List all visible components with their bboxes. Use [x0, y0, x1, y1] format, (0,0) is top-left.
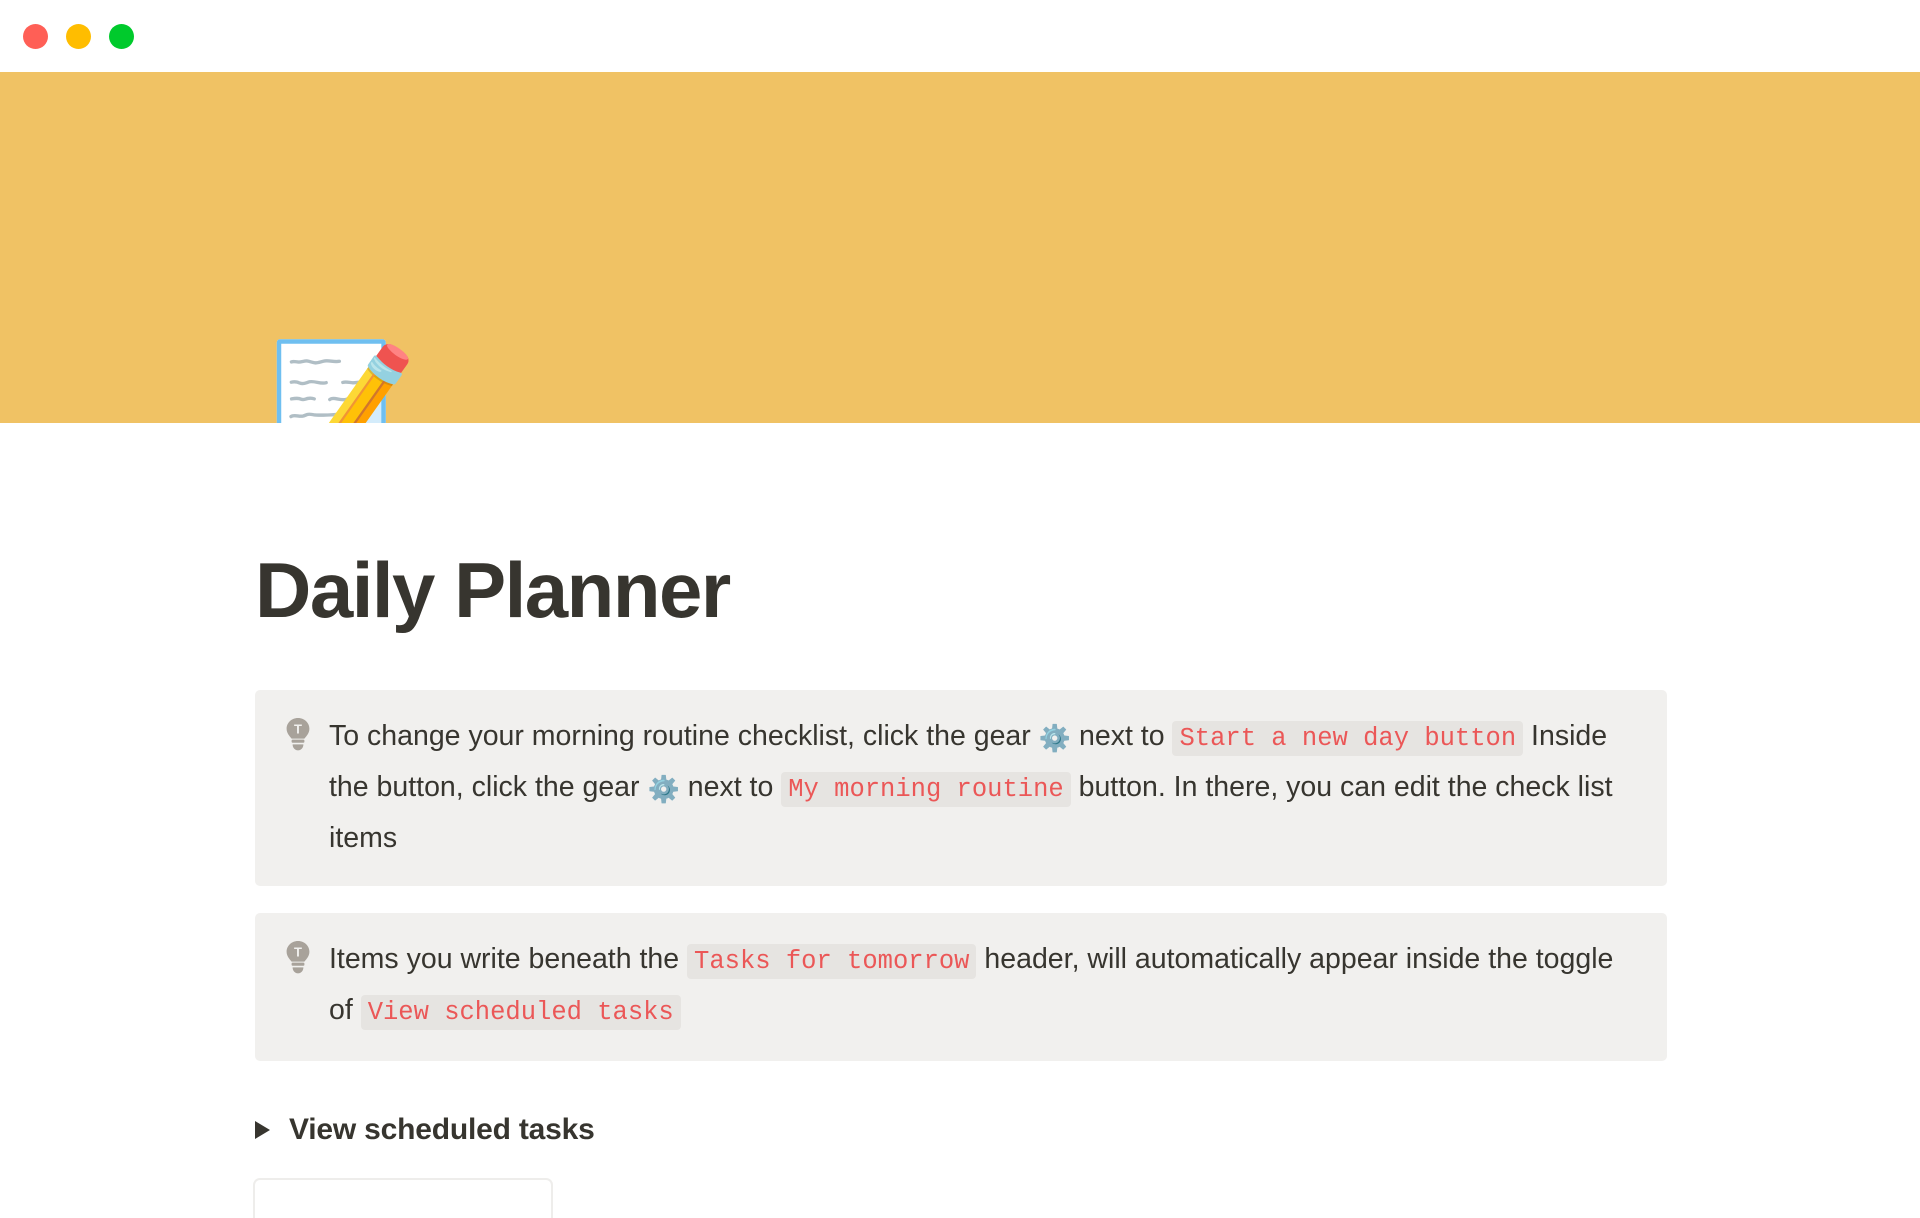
- code-view-scheduled-tasks: View scheduled tasks: [361, 995, 681, 1030]
- lightbulb-icon: T: [285, 940, 325, 974]
- code-my-morning-routine: My morning routine: [781, 772, 1070, 807]
- close-window-button[interactable]: [23, 24, 48, 49]
- callout-morning-routine[interactable]: T To change your morning routine checkli…: [255, 690, 1667, 886]
- toggle-view-scheduled-tasks[interactable]: View scheduled tasks: [255, 1113, 595, 1147]
- gear-icon[interactable]: ⚙️: [1039, 723, 1071, 753]
- callout-text-segment: Items you write beneath the: [329, 943, 687, 975]
- svg-text:T: T: [294, 722, 302, 737]
- page-title[interactable]: Daily Planner: [255, 551, 730, 629]
- toggle-label[interactable]: View scheduled tasks: [289, 1113, 595, 1147]
- minimize-window-button[interactable]: [66, 24, 91, 49]
- callout-tasks-tomorrow[interactable]: T Items you write beneath the Tasks for …: [255, 913, 1667, 1061]
- window-title-bar: [0, 0, 1920, 72]
- code-start-a-new-day-button: Start a new day button: [1172, 721, 1523, 756]
- svg-text:T: T: [294, 945, 302, 960]
- chevron-right-icon[interactable]: [255, 1121, 270, 1139]
- callout-tasks-tomorrow-text: Items you write beneath the Tasks for to…: [325, 935, 1637, 1037]
- maximize-window-button[interactable]: [109, 24, 134, 49]
- callout-text-segment: next to: [680, 771, 781, 803]
- callout-text-segment: next to: [1071, 720, 1172, 752]
- scheduled-task-card-stub[interactable]: [253, 1178, 553, 1218]
- lightbulb-icon: T: [285, 717, 325, 751]
- code-tasks-for-tomorrow: Tasks for tomorrow: [687, 944, 976, 979]
- page-content: Daily Planner T To change your morning r…: [0, 423, 1920, 1200]
- gear-icon[interactable]: ⚙️: [647, 774, 679, 804]
- callout-morning-routine-text: To change your morning routine checklist…: [325, 712, 1637, 862]
- callout-text-segment: To change your morning routine checklist…: [329, 720, 1039, 752]
